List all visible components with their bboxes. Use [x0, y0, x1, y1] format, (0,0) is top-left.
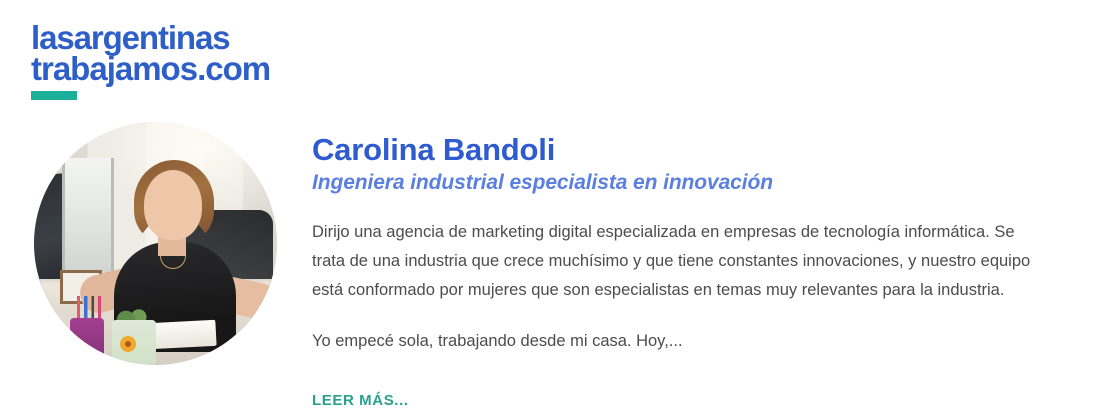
profile-card: Carolina Bandoli Ingeniera industrial es… [0, 110, 1104, 418]
photo-flower [120, 336, 136, 352]
profile-paragraph: Yo empecé sola, trabajando desde mi casa… [312, 327, 1047, 356]
profile-role: Ingeniera industrial especialista en inn… [312, 170, 1052, 196]
avatar-photo [34, 122, 277, 365]
read-more-link[interactable]: LEER MÁS... [312, 392, 409, 409]
profile-paragraph: Dirijo una agencia de marketing digital … [312, 218, 1047, 305]
photo-window [62, 158, 114, 278]
logo-line-two: trabajamos.com [31, 53, 321, 84]
logo-line-one: lasargentinas [31, 22, 321, 53]
logo-accent-bar [31, 91, 77, 100]
photo-head [144, 170, 202, 240]
avatar [34, 122, 277, 365]
profile-text-column: Carolina Bandoli Ingeniera industrial es… [312, 110, 1052, 410]
site-logo[interactable]: lasargentinas trabajamos.com [31, 22, 321, 100]
profile-name: Carolina Bandoli [312, 132, 1052, 168]
photo-pen-cup [70, 318, 104, 365]
